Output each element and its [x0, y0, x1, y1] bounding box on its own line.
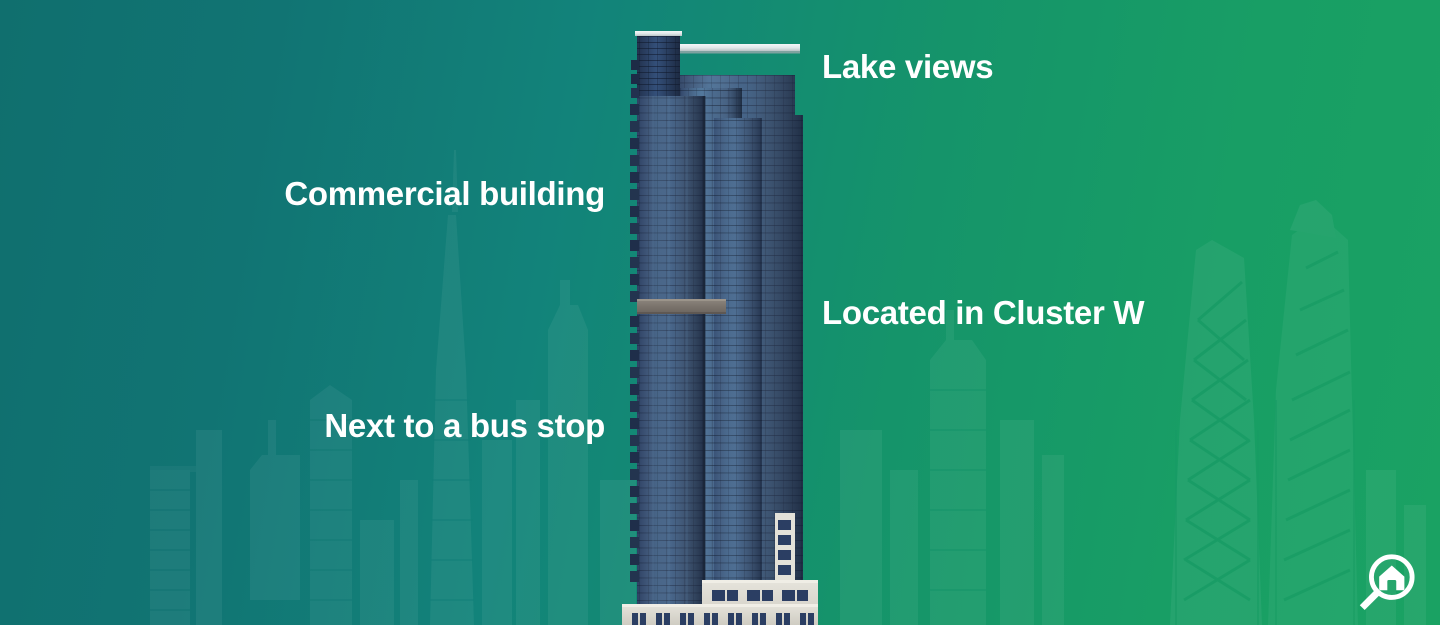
infographic-canvas: Lake views Commercial building Located i…: [0, 0, 1440, 625]
service-column-right: [775, 513, 795, 625]
skyscraper-illustration: [0, 0, 1440, 625]
skyline-watermark: [0, 0, 1440, 625]
rear-wing-roof-slab: [672, 44, 800, 54]
callout-located-in-cluster-w: Located in Cluster W: [822, 296, 1144, 329]
callout-next-to-a-bus-stop: Next to a bus stop: [324, 409, 605, 442]
callout-lake-views: Lake views: [822, 50, 993, 83]
tower-crown-block: [635, 31, 682, 96]
magnifier-house-icon: [1360, 557, 1412, 610]
tower-front-right-block: [714, 118, 762, 625]
tower-rear-wing: [672, 75, 803, 625]
callout-commercial-building: Commercial building: [284, 177, 605, 210]
podium-upper: [702, 580, 818, 625]
tower-main-shaft: [637, 96, 706, 625]
tower-mid-block: [680, 88, 742, 625]
balcony-stack-left: [630, 60, 639, 582]
podium-lower: [622, 604, 818, 625]
sky-bridge-band: [637, 299, 726, 314]
bayut-logo[interactable]: [1354, 549, 1416, 611]
